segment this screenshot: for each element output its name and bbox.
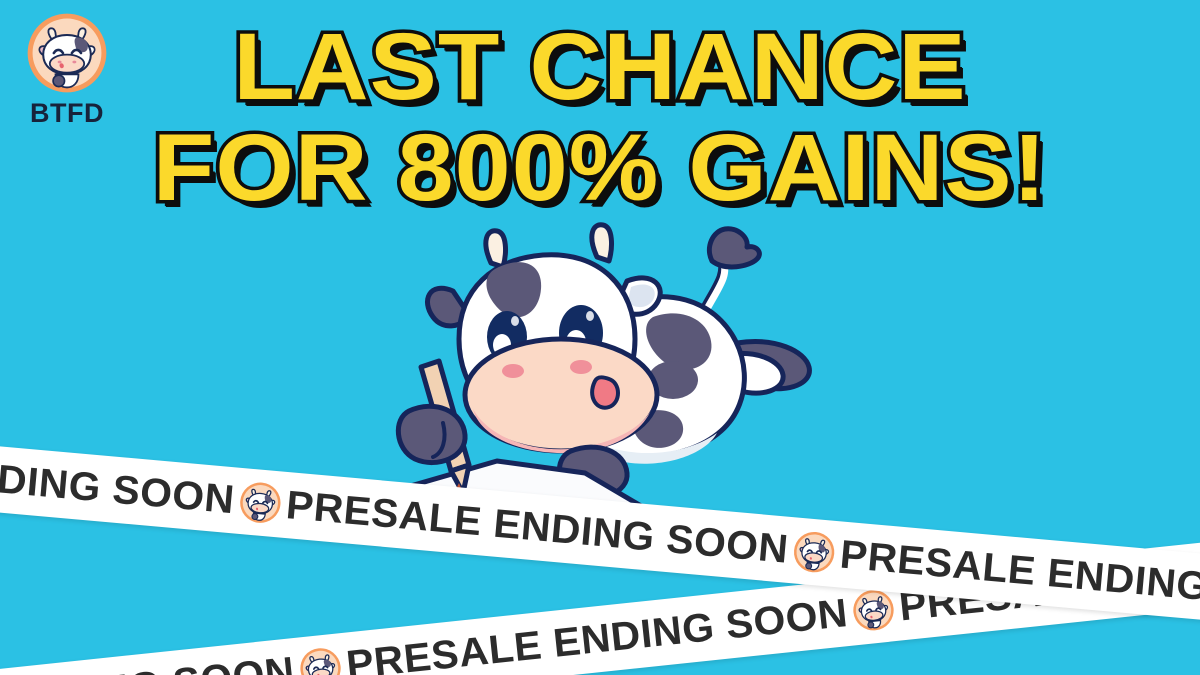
cow-chip-icon	[850, 587, 896, 633]
headline-line-2: FOR 800% GAINS!	[0, 123, 1200, 214]
brand-logo-block[interactable]: BTFD	[12, 12, 122, 127]
banner-word: PRESALE ENDING SOON	[340, 593, 853, 675]
promo-banner-canvas: BTFD LAST CHANCE FOR 800% GAINS!	[0, 0, 1200, 675]
cow-chip-icon	[297, 645, 343, 675]
cow-chip-icon	[791, 529, 837, 575]
banner-word: PRESALE ENDING SOON	[0, 651, 301, 675]
headline-line-1: LAST CHANCE	[0, 22, 1200, 113]
headline-block: LAST CHANCE FOR 800% GAINS!	[0, 22, 1200, 214]
cow-chip-icon	[238, 480, 284, 526]
brand-name-label: BTFD	[12, 100, 122, 127]
cow-logo-icon	[26, 12, 108, 94]
banner-word: PRESALE ENDING SOON	[0, 436, 240, 521]
